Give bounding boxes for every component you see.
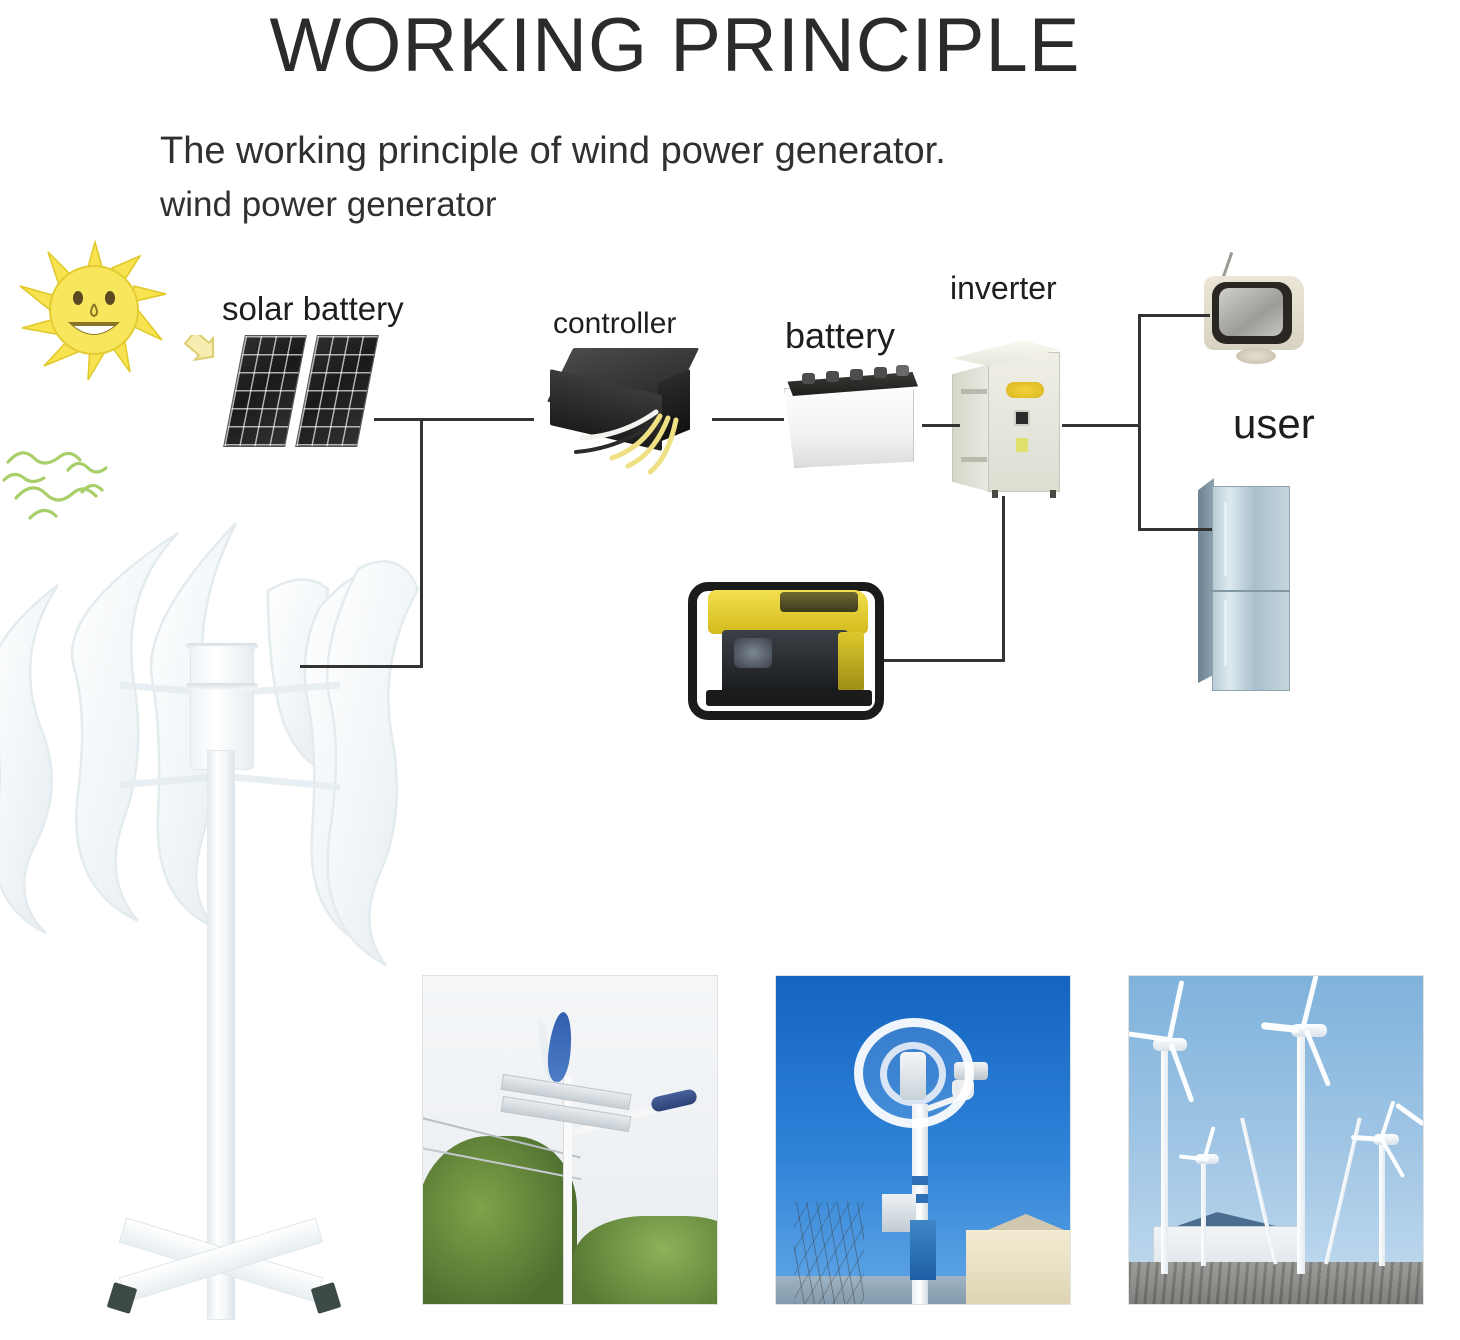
wire-bus-to-tv [1138, 314, 1210, 317]
refrigerator-icon [1198, 478, 1298, 693]
photo2-banner [910, 1220, 936, 1280]
battery-cap [874, 367, 887, 378]
battery-cap [826, 371, 839, 382]
battery-case [784, 388, 914, 468]
photo2-pole-band [912, 1176, 928, 1185]
inverter-foot [1050, 490, 1056, 498]
backup-generator-icon [688, 572, 888, 732]
photo1-trees-right [573, 1216, 718, 1305]
wire-generator-to-inverter [884, 659, 1005, 662]
photo3-turbine-blade [1169, 1043, 1195, 1103]
photo3-turbine-tower [1379, 1142, 1385, 1266]
inverter-display [1014, 410, 1030, 426]
lead-acid-battery-icon [780, 364, 928, 472]
wire-solar-to-controller [374, 418, 534, 421]
label-controller: controller [553, 307, 676, 341]
charge-controller-icon [548, 348, 713, 483]
battery-cap [802, 373, 815, 384]
inverter-sticker [1016, 438, 1028, 452]
inverter-cabinet-icon [950, 338, 1070, 498]
photo3-turbine-blade [1167, 980, 1185, 1042]
generator-base-rail [706, 690, 872, 706]
battery-post [896, 365, 909, 376]
crt-television-icon [1198, 252, 1318, 370]
label-inverter: inverter [950, 270, 1057, 307]
photo2-bare-tree [794, 1202, 864, 1305]
generator-engine-highlight [734, 638, 772, 668]
photo1-lamp-head [650, 1088, 698, 1113]
wire-inverter-to-user-bus [1062, 424, 1140, 427]
photo3-turbine-blade [1304, 1029, 1331, 1087]
sunlight-arrow-icon [182, 335, 232, 385]
photo-solar-wind-street-light [422, 975, 718, 1305]
tv-screen [1219, 288, 1283, 336]
sun-smiling-icon [18, 240, 173, 380]
label-user: user [1233, 400, 1315, 448]
wire-controller-to-battery [712, 418, 784, 421]
fridge-upper-handle [1224, 502, 1227, 576]
photo3-turbine-tower [1161, 1046, 1168, 1274]
fridge-lower-handle [1224, 600, 1227, 666]
wire-junction-vertical [420, 418, 423, 668]
solar-panel-module-right [295, 335, 379, 447]
page-title: WORKING PRINCIPLE [0, 2, 1350, 89]
photo3-turbine-blade [1128, 1031, 1169, 1042]
wire-turbine-to-junction [300, 665, 423, 668]
generator-control-panel [780, 592, 858, 612]
photo3-turbine-tower [1201, 1162, 1206, 1266]
photo3-turbine-blade [1300, 975, 1318, 1030]
inverter-foot [992, 490, 998, 498]
wire-user-bus-vertical [1138, 314, 1141, 530]
tv-stand [1236, 348, 1276, 364]
photo3-turbine-tower [1297, 1034, 1305, 1274]
photo3-rocky-ground [1129, 1262, 1424, 1305]
inverter-side-panel [952, 364, 990, 492]
solar-panel-icon [228, 335, 376, 455]
photo-horizontal-axis-turbines [1128, 975, 1424, 1305]
battery-cap [850, 369, 863, 380]
subtitle-line-1: The working principle of wind power gene… [160, 130, 946, 173]
photo1-turbine-blade-blue [545, 1011, 574, 1083]
wire-battery-to-inverter [922, 424, 960, 427]
fridge-door-divider [1212, 590, 1290, 592]
inverter-brand-badge [1006, 382, 1044, 398]
solar-panel-module-left [223, 335, 307, 447]
photo2-house [966, 1230, 1071, 1305]
vertical-axis-wind-turbine-icon [0, 495, 420, 1335]
wire-bus-to-fridge [1138, 528, 1212, 531]
turbine-mast [207, 750, 235, 1320]
photo2-turbine-nacelle [900, 1052, 926, 1100]
label-solar-battery: solar battery [222, 290, 404, 328]
photo3-turbine-blade [1395, 1102, 1424, 1126]
wire-inverter-down [1002, 496, 1005, 662]
controller-cable-bundle [508, 406, 708, 486]
generator-side-cover [838, 632, 864, 692]
subtitle-line-2: wind power generator [160, 185, 497, 225]
label-battery: battery [785, 315, 895, 357]
photo-vertical-axis-turbine-pole [775, 975, 1071, 1305]
turbine-hub-ring [186, 683, 258, 690]
